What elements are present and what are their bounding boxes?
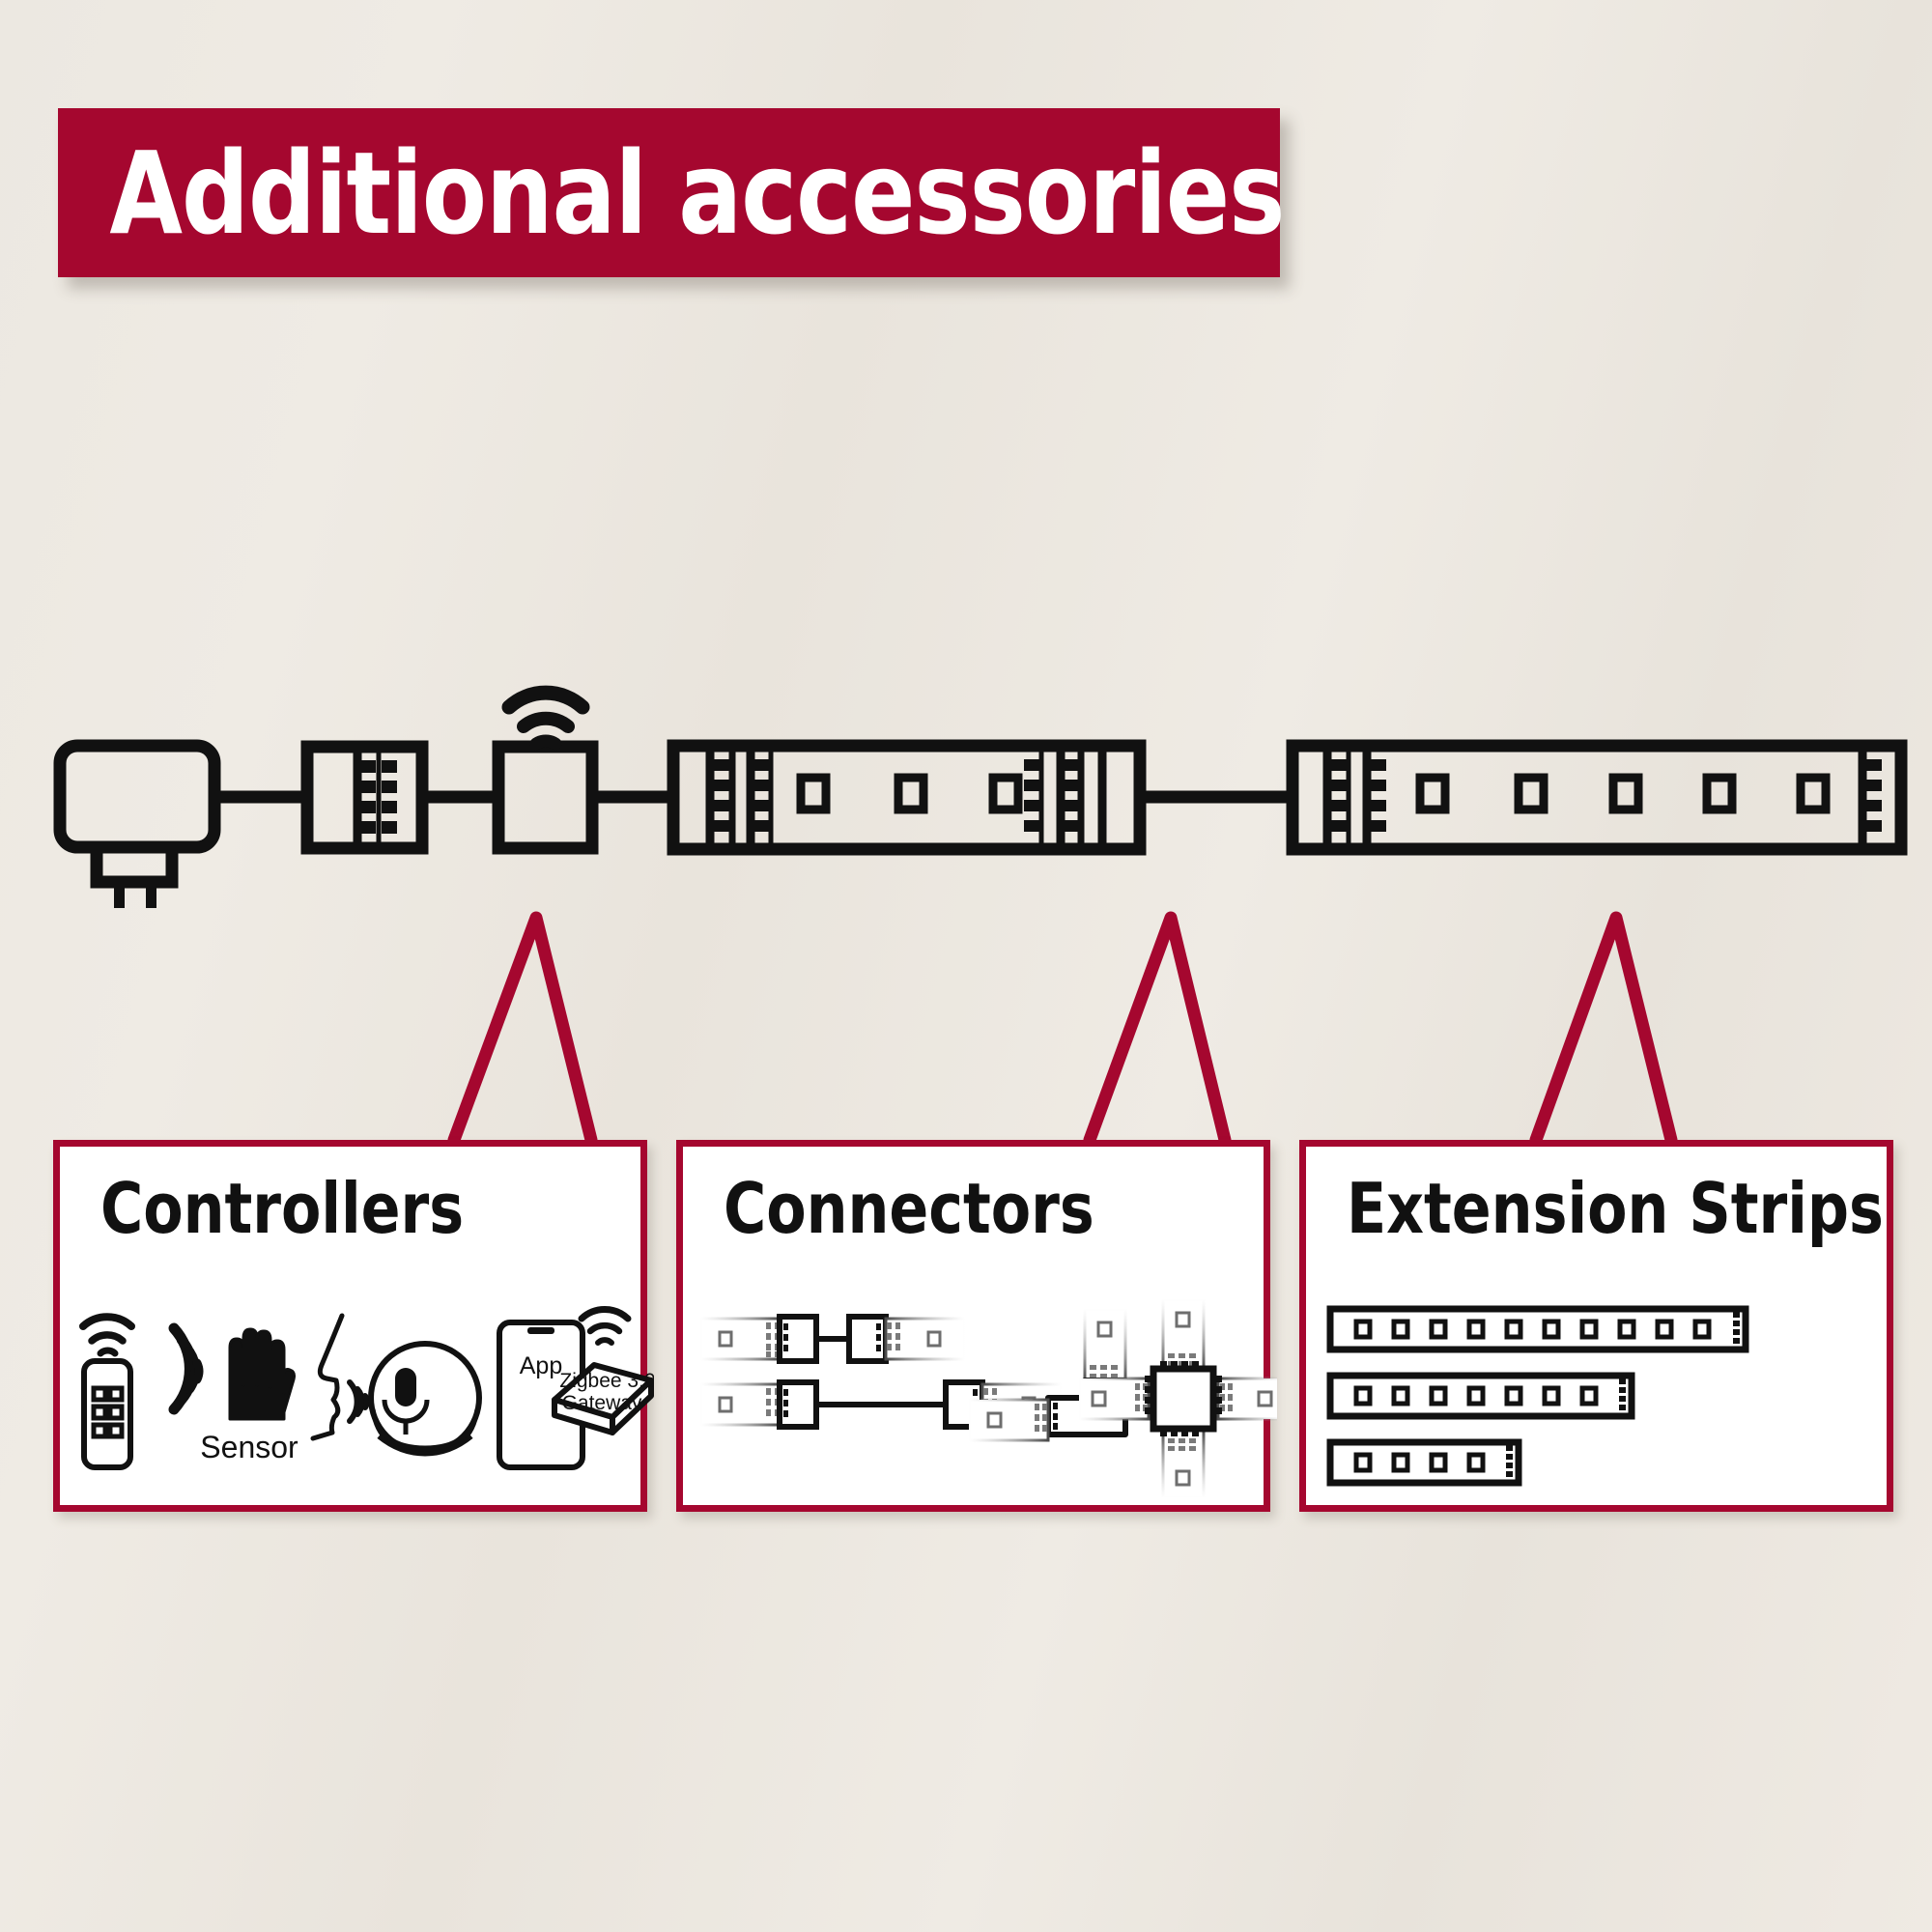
- zigbee-label-line1: Zigbee 3.0: [559, 1370, 654, 1392]
- box-extensions[interactable]: Extension Strips: [1299, 1140, 1893, 1512]
- app-label: App: [520, 1352, 562, 1379]
- title-banner: Additional accessories: [58, 108, 1280, 277]
- wifi-icon: [509, 693, 582, 744]
- led-dots: [1420, 778, 1826, 810]
- voice-control-speaker-icon: [313, 1316, 479, 1454]
- box-controllers-heading: Controllers: [100, 1174, 464, 1243]
- strip-to-strip-short-cable-connector-icon: [700, 1317, 965, 1361]
- led-strip-short: [673, 746, 1140, 849]
- pointer-spikes: [0, 898, 1932, 1159]
- remote-control-icon: [83, 1317, 131, 1467]
- led-dots: [801, 778, 1018, 810]
- box-connectors[interactable]: Connectors: [676, 1140, 1270, 1512]
- box-controllers-art: Sensor: [60, 1292, 640, 1499]
- pointer-extensions: [1536, 918, 1671, 1140]
- zigbee-label-line2: Gateway: [562, 1392, 642, 1414]
- corner-connector-icon: [969, 1309, 1125, 1440]
- extension-strip-long: [1330, 1309, 1746, 1350]
- power-supply-plug-icon: [60, 746, 214, 908]
- poster-canvas: Additional accessories: [0, 0, 1932, 1932]
- led-strip-long: [1293, 746, 1901, 849]
- pointer-controllers: [454, 918, 591, 1140]
- box-extensions-art: [1306, 1292, 1887, 1499]
- sensor-label: Sensor: [200, 1430, 298, 1464]
- extension-strip-medium: [1330, 1376, 1632, 1416]
- extension-strip-short: [1330, 1442, 1519, 1483]
- box-connectors-art: [683, 1292, 1264, 1499]
- chain-diagram: [0, 667, 1932, 908]
- pointer-connectors: [1090, 918, 1225, 1140]
- controller-box-icon: [498, 747, 592, 848]
- box-connectors-heading: Connectors: [724, 1174, 1094, 1243]
- strip-connector-icon: [307, 747, 422, 848]
- accessory-boxes: Controllers: [0, 1140, 1932, 1526]
- box-extensions-heading: Extension Strips: [1347, 1174, 1884, 1243]
- motion-sensor-hand-icon: [174, 1328, 295, 1419]
- page-title: Additional accessories: [58, 136, 1284, 250]
- box-controllers[interactable]: Controllers: [53, 1140, 647, 1512]
